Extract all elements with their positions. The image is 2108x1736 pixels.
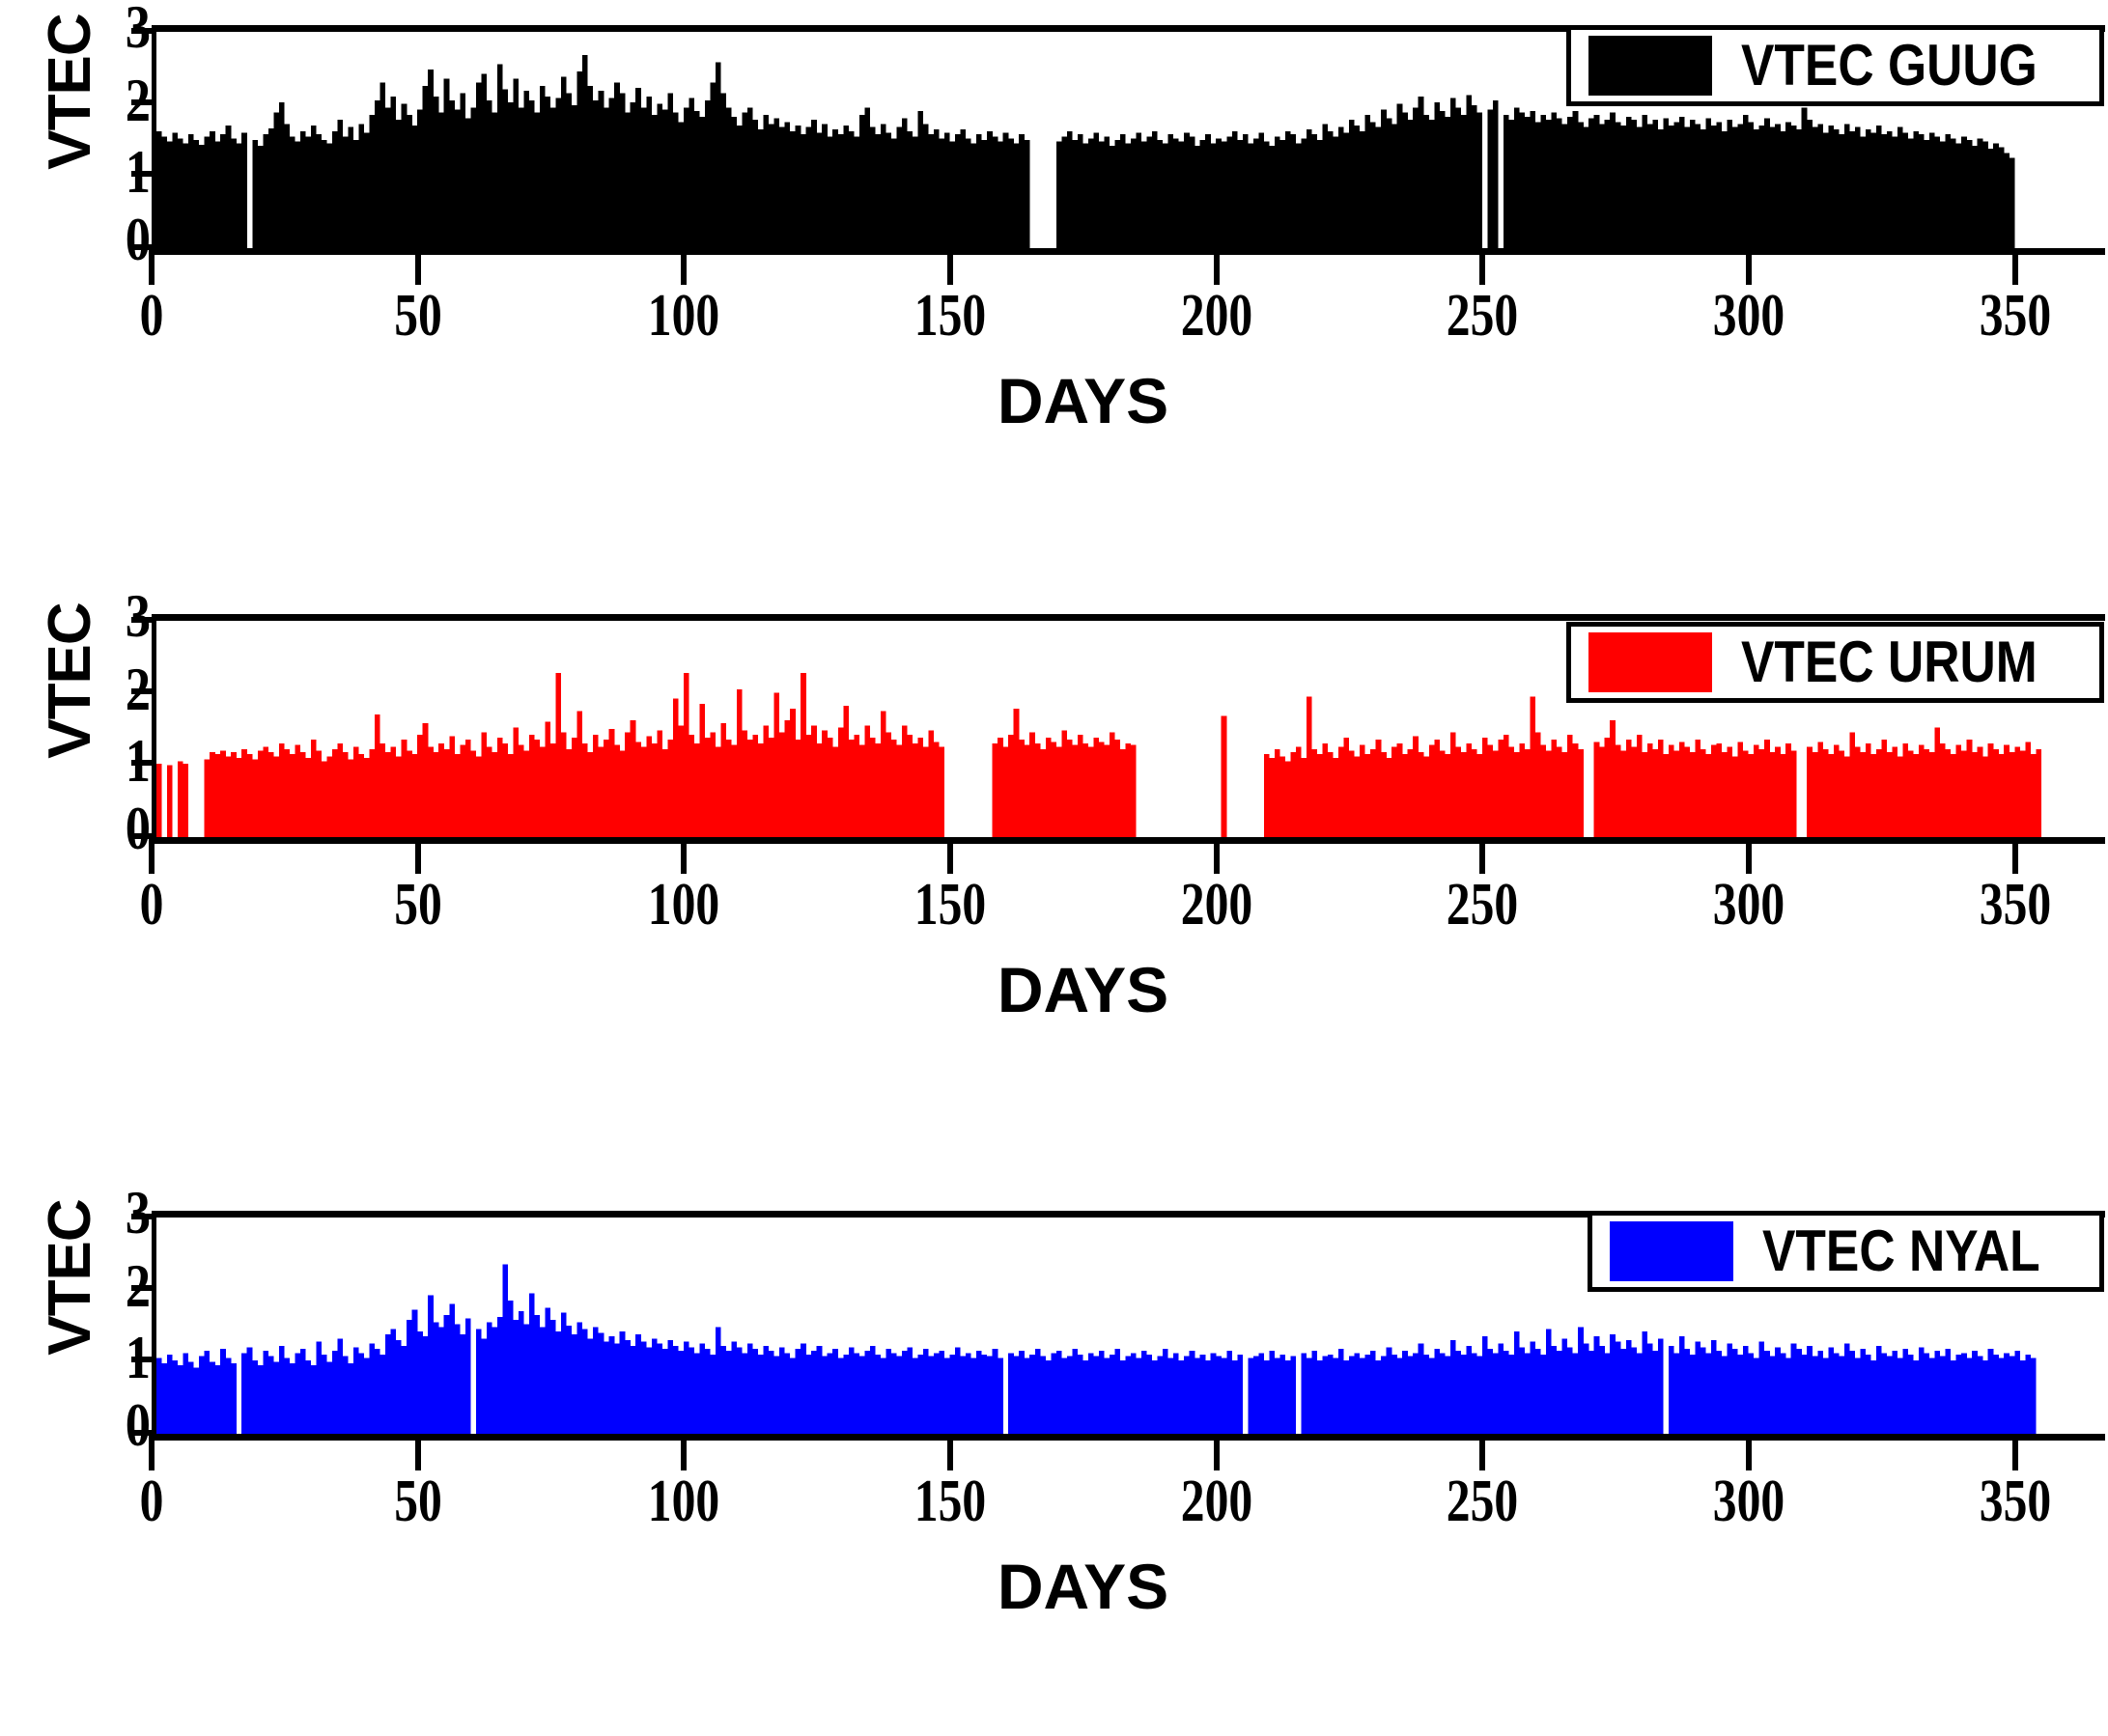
x-tick-mark-250 [1479, 837, 1485, 874]
x-tick-label-350: 350 [1980, 286, 2051, 346]
x-tick-mark-350 [2012, 837, 2018, 874]
y-axis-tick-labels: 3 2 1 0 [93, 1186, 151, 1427]
x-tick-mark-100 [681, 837, 687, 874]
x-tick-mark-150 [947, 837, 953, 874]
x-axis-title: DAYS [0, 958, 2108, 1022]
x-tick-label-0: 0 [140, 1471, 164, 1531]
x-tick-mark-200 [1214, 248, 1220, 285]
legend-nyal: VTEC NYAL [1588, 1211, 2104, 1292]
chart-panel-guug: VTEC 3 2 1 0 050100150200250300350 DAYS … [0, 0, 2108, 550]
chart-panel-urum: VTEC 3 2 1 0 050100150200250300350 DAYS … [0, 589, 2108, 1139]
figure-root: VTEC 3 2 1 0 050100150200250300350 DAYS … [0, 0, 2108, 1719]
x-axis-title: DAYS [0, 369, 2108, 433]
x-tick-label-350: 350 [1980, 1471, 2051, 1531]
x-tick-label-0: 0 [140, 286, 164, 346]
x-axis-tick-labels: 050100150200250300350 [0, 286, 2108, 363]
x-tick-label-200: 200 [1181, 286, 1252, 346]
x-tick-mark-150 [947, 248, 953, 285]
x-tick-label-50: 50 [394, 286, 442, 346]
x-tick-label-50: 50 [394, 875, 442, 935]
x-tick-mark-250 [1479, 248, 1485, 285]
y-tick-label-3: 3 [126, 585, 151, 647]
x-tick-label-100: 100 [648, 1471, 719, 1531]
legend-swatch-nyal [1610, 1221, 1733, 1281]
x-tick-mark-350 [2012, 248, 2018, 285]
x-tick-mark-200 [1214, 1434, 1220, 1470]
x-tick-label-50: 50 [394, 1471, 442, 1531]
y-tick-mark-2 [131, 99, 156, 105]
x-tick-label-150: 150 [914, 1471, 986, 1531]
x-axis-tick-marks [152, 837, 2100, 874]
y-tick-mark-1 [131, 760, 156, 766]
x-tick-mark-100 [681, 248, 687, 285]
x-axis-title-text: DAYS [940, 954, 1168, 1025]
x-tick-label-200: 200 [1181, 1471, 1252, 1531]
x-tick-mark-50 [415, 1434, 421, 1470]
x-tick-label-150: 150 [914, 286, 986, 346]
y-axis-tick-labels: 3 2 1 0 [93, 589, 151, 830]
x-axis-title: DAYS [0, 1554, 2108, 1618]
x-axis-tick-labels: 050100150200250300350 [0, 875, 2108, 952]
x-tick-mark-150 [947, 1434, 953, 1470]
x-tick-label-200: 200 [1181, 875, 1252, 935]
x-tick-label-250: 250 [1447, 286, 1518, 346]
x-tick-mark-200 [1214, 837, 1220, 874]
x-tick-label-100: 100 [648, 875, 719, 935]
x-axis-title-text: DAYS [940, 365, 1168, 436]
y-tick-label-0: 0 [126, 798, 151, 859]
y-axis-tick-labels: 3 2 1 0 [93, 0, 151, 241]
legend-guug: VTEC GUUG [1566, 25, 2104, 106]
chart-panel-nyal: VTEC 3 2 1 0 050100150200250300350 DAYS … [0, 1186, 2108, 1736]
y-tick-label-0: 0 [126, 209, 151, 270]
legend-swatch-guug [1588, 36, 1712, 96]
y-tick-mark-3 [131, 1214, 156, 1219]
x-tick-mark-50 [415, 837, 421, 874]
x-axis-tick-labels: 050100150200250300350 [0, 1471, 2108, 1549]
x-tick-label-350: 350 [1980, 875, 2051, 935]
x-tick-label-100: 100 [648, 286, 719, 346]
x-axis-tick-marks [152, 1434, 2100, 1470]
legend-swatch-urum [1588, 632, 1712, 692]
y-tick-label-0: 0 [126, 1394, 151, 1456]
x-tick-label-150: 150 [914, 875, 986, 935]
legend-label-urum: VTEC URUM [1741, 632, 2038, 692]
x-axis-title-text: DAYS [940, 1551, 1168, 1622]
x-tick-mark-250 [1479, 1434, 1485, 1470]
legend-label-guug: VTEC GUUG [1741, 36, 2038, 96]
x-tick-label-0: 0 [140, 875, 164, 935]
legend-label-nyal: VTEC NYAL [1762, 1221, 2040, 1281]
y-tick-mark-2 [131, 688, 156, 694]
y-tick-mark-3 [131, 28, 156, 34]
x-tick-mark-300 [1746, 837, 1752, 874]
x-tick-mark-300 [1746, 1434, 1752, 1470]
x-tick-mark-0 [149, 248, 155, 285]
x-tick-mark-300 [1746, 248, 1752, 285]
x-tick-label-300: 300 [1713, 286, 1785, 346]
x-tick-mark-0 [149, 1434, 155, 1470]
x-tick-label-250: 250 [1447, 875, 1518, 935]
legend-urum: VTEC URUM [1566, 622, 2104, 703]
x-axis-tick-marks [152, 248, 2100, 285]
y-tick-mark-1 [131, 1357, 156, 1362]
y-tick-label-3: 3 [126, 1182, 151, 1244]
x-tick-mark-100 [681, 1434, 687, 1470]
x-tick-label-300: 300 [1713, 875, 1785, 935]
x-tick-mark-0 [149, 837, 155, 874]
x-tick-label-250: 250 [1447, 1471, 1518, 1531]
y-tick-mark-2 [131, 1285, 156, 1291]
x-tick-label-300: 300 [1713, 1471, 1785, 1531]
y-tick-mark-3 [131, 617, 156, 623]
x-tick-mark-350 [2012, 1434, 2018, 1470]
y-tick-mark-1 [131, 171, 156, 177]
x-tick-mark-50 [415, 248, 421, 285]
